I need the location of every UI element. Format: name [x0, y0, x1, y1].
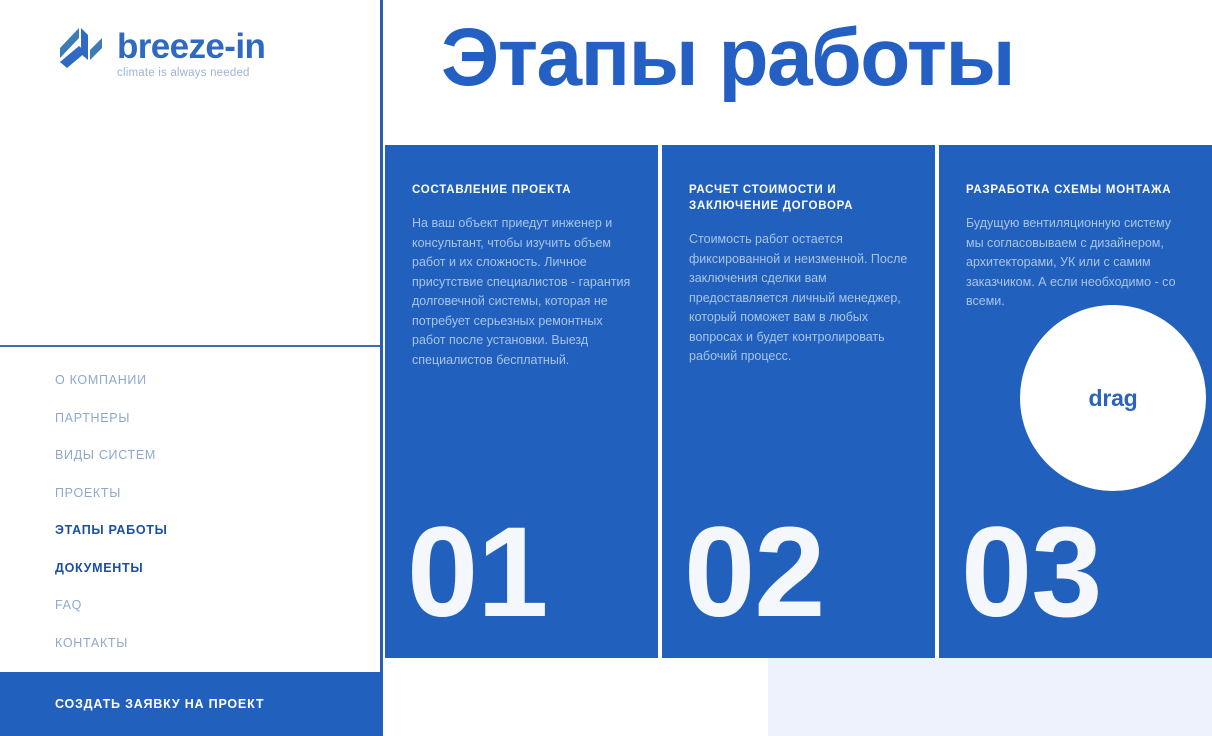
sidebar-item-faq[interactable]: FAQ — [55, 596, 355, 634]
stage-card-02-content: РАСЧЕТ СТОИМОСТИ И ЗАКЛЮЧЕНИЕ ДОГОВОРА С… — [689, 182, 913, 367]
stage-card-02-number: 02 — [684, 521, 824, 626]
stage-card-02-title: РАСЧЕТ СТОИМОСТИ И ЗАКЛЮЧЕНИЕ ДОГОВОРА — [689, 182, 913, 214]
drag-handle-label: drag — [1088, 385, 1137, 412]
sidebar-item-about[interactable]: О КОМПАНИИ — [55, 371, 355, 409]
cta-label: СОЗДАТЬ ЗАЯВКУ НА ПРОЕКТ — [55, 697, 264, 711]
stage-card-03-body: Будущую вентиляционную систему мы соглас… — [966, 214, 1190, 312]
create-project-request-button[interactable]: СОЗДАТЬ ЗАЯВКУ НА ПРОЕКТ — [0, 672, 383, 736]
drag-handle[interactable]: drag — [1020, 305, 1206, 491]
stage-card-03-number: 03 — [961, 521, 1101, 626]
sidebar-item-system-types[interactable]: ВИДЫ СИСТЕМ — [55, 446, 355, 484]
logo-tagline: climate is always needed — [117, 68, 265, 80]
sidebar-item-work-stages[interactable]: ЭТАПЫ РАБОТЫ — [55, 521, 355, 559]
logo[interactable]: breeze-in climate is always needed — [55, 24, 265, 80]
bottom-strip — [768, 658, 1212, 736]
sidebar-divider — [0, 345, 380, 347]
sidebar-item-contacts[interactable]: КОНТАКТЫ — [55, 634, 355, 672]
airflow-chevron-icon — [55, 24, 107, 76]
stage-card-02-body: Стоимость работ остается фиксированной и… — [689, 230, 913, 367]
stage-card-03-content: РАЗРАБОТКА СХЕМЫ МОНТАЖА Будущую вентиля… — [966, 182, 1190, 312]
sidebar: breeze-in climate is always needed О КОМ… — [0, 0, 383, 736]
sidebar-item-projects[interactable]: ПРОЕКТЫ — [55, 484, 355, 522]
stage-card-03-title: РАЗРАБОТКА СХЕМЫ МОНТАЖА — [966, 182, 1190, 198]
stage-card-01-title: СОСТАВЛЕНИЕ ПРОЕКТА — [412, 182, 636, 198]
sidebar-item-documents[interactable]: ДОКУМЕНТЫ — [55, 559, 355, 597]
sidebar-nav: О КОМПАНИИ ПАРТНЕРЫ ВИДЫ СИСТЕМ ПРОЕКТЫ … — [55, 371, 355, 671]
sidebar-item-partners[interactable]: ПАРТНЕРЫ — [55, 409, 355, 447]
stage-card-01-number: 01 — [407, 521, 547, 626]
logo-wordmark: breeze-in — [117, 29, 265, 64]
page-root: breeze-in climate is always needed О КОМ… — [0, 0, 1212, 736]
stage-card-02: РАСЧЕТ СТОИМОСТИ И ЗАКЛЮЧЕНИЕ ДОГОВОРА С… — [662, 145, 935, 658]
stage-card-01: СОСТАВЛЕНИЕ ПРОЕКТА На ваш объект приеду… — [385, 145, 658, 658]
stage-card-01-content: СОСТАВЛЕНИЕ ПРОЕКТА На ваш объект приеду… — [412, 182, 636, 370]
stage-card-01-body: На ваш объект приедут инженер и консульт… — [412, 214, 636, 370]
logo-text: breeze-in climate is always needed — [117, 24, 265, 80]
page-title: Этапы работы — [441, 13, 1014, 103]
